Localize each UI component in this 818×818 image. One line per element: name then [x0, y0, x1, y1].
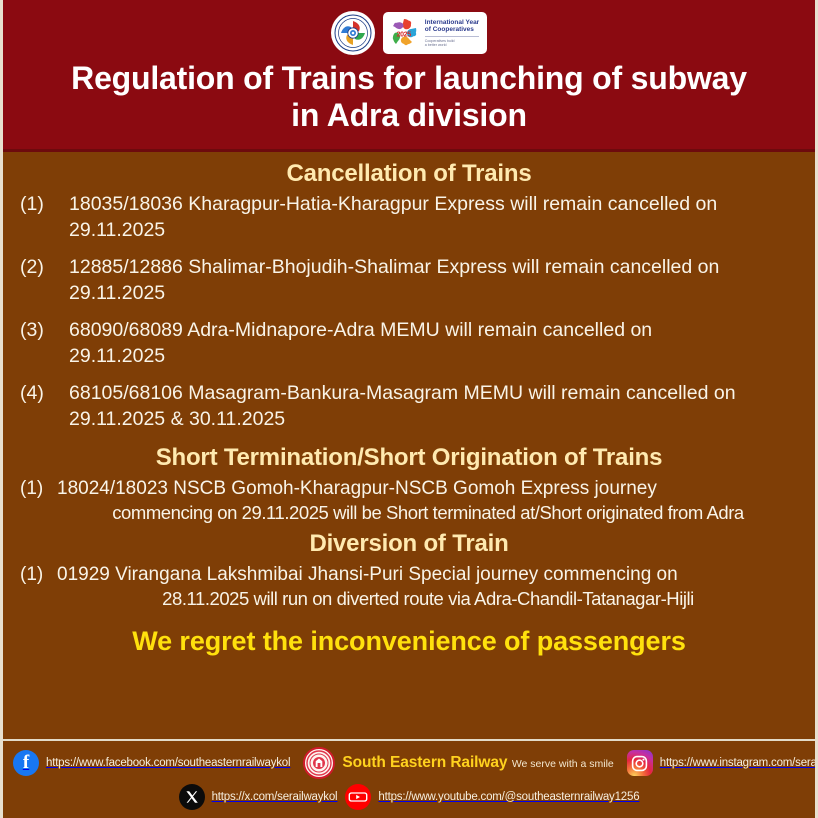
railway-notice-poster: 2025 International Year of Cooperatives … — [0, 0, 818, 818]
item-text-line2: 29.11.2025 — [69, 281, 799, 307]
section-heading: Cancellation of Trains — [19, 160, 799, 188]
x-twitter-url: https://x.com/serailwaykol — [212, 791, 338, 803]
brand-tagline: We serve with a smile — [512, 758, 614, 770]
item-text-line1: 12885/12886 Shalimar-Bhojudih-Shalimar E… — [69, 256, 719, 278]
item-marker: (2) — [19, 255, 69, 281]
iyc-text-block: International Year of Cooperatives Coope… — [425, 19, 479, 48]
item-text: 12885/12886 Shalimar-Bhojudih-Shalimar E… — [69, 255, 799, 307]
item-text: 01929 Virangana Lakshmibai Jhansi-Puri S… — [57, 562, 799, 612]
notice-content: Cancellation of Trains (1) 18035/18036 K… — [3, 152, 815, 739]
x-twitter-link[interactable]: https://x.com/serailwaykol — [179, 784, 338, 810]
item-text: 68105/68106 Masagram-Bankura-Masagram ME… — [69, 381, 799, 433]
south-eastern-railway-brand: South Eastern Railway We serve with a sm… — [303, 747, 613, 779]
item-text-line1: 68105/68106 Masagram-Bankura-Masagram ME… — [69, 382, 736, 404]
poster-header: 2025 International Year of Cooperatives … — [3, 0, 815, 152]
brand-text: South Eastern Railway We serve with a sm… — [342, 755, 613, 772]
cancellation-items-list: (1) 18035/18036 Kharagpur-Hatia-Kharagpu… — [19, 192, 799, 432]
list-item: (1) 18035/18036 Kharagpur-Hatia-Kharagpu… — [19, 192, 799, 244]
item-text-line2: 29.11.2025 — [69, 218, 799, 244]
facebook-url: https://www.facebook.com/southeasternrai… — [46, 757, 290, 769]
iyc-subtitle-line2: a better world — [425, 43, 479, 47]
short-termination-items-list: (1) 18024/18023 NSCB Gomoh-Kharagpur-NSC… — [19, 476, 799, 526]
diversion-items-list: (1) 01929 Virangana Lakshmibai Jhansi-Pu… — [19, 562, 799, 612]
facebook-icon: f — [13, 750, 39, 776]
item-marker: (1) — [19, 192, 69, 218]
logo-row: 2025 International Year of Cooperatives … — [3, 10, 815, 56]
iyc-year-label: 2025 — [397, 32, 411, 39]
page-title-line2: in Adra division — [29, 97, 789, 134]
item-marker: (4) — [19, 381, 69, 407]
page-title-line1: Regulation of Trains for launching of su… — [29, 60, 789, 97]
section-heading: Diversion of Train — [19, 530, 799, 558]
item-marker: (1) — [19, 562, 57, 587]
iyc-title-line1: International Year — [425, 19, 479, 27]
x-twitter-icon — [179, 784, 205, 810]
list-item: (4) 68105/68106 Masagram-Bankura-Masagra… — [19, 381, 799, 433]
list-item: (3) 68090/68089 Adra-Midnapore-Adra MEMU… — [19, 318, 799, 370]
footer-row-primary: f https://www.facebook.com/southeasternr… — [13, 747, 805, 779]
item-text-line1: 68090/68089 Adra-Midnapore-Adra MEMU wil… — [69, 319, 652, 341]
regret-note: We regret the inconvenience of passenger… — [19, 626, 799, 657]
section-cancellation-of-trains: Cancellation of Trains (1) 18035/18036 K… — [19, 160, 799, 433]
section-diversion-of-train: Diversion of Train (1) 01929 Virangana L… — [19, 530, 799, 612]
item-text: 68090/68089 Adra-Midnapore-Adra MEMU wil… — [69, 318, 799, 370]
youtube-url: https://www.youtube.com/@southeasternrai… — [378, 791, 639, 803]
south-eastern-railway-logo-icon — [303, 747, 335, 779]
instagram-link[interactable]: https://www.instagram.com/serailwaykolka… — [627, 750, 818, 776]
item-text-line1: 18024/18023 NSCB Gomoh-Kharagpur-NSCB Go… — [57, 478, 657, 499]
page-title: Regulation of Trains for launching of su… — [3, 60, 815, 141]
section-heading: Short Termination/Short Origination of T… — [19, 444, 799, 472]
item-marker: (1) — [19, 476, 57, 501]
item-text-line1: 18035/18036 Kharagpur-Hatia-Kharagpur Ex… — [69, 193, 717, 215]
item-text: 18035/18036 Kharagpur-Hatia-Kharagpur Ex… — [69, 192, 799, 244]
iyc-title-line2: of Cooperatives — [425, 26, 479, 34]
section-short-termination-origination: Short Termination/Short Origination of T… — [19, 444, 799, 526]
indian-railways-emblem-icon — [331, 11, 375, 55]
poster-footer: f https://www.facebook.com/southeasternr… — [3, 739, 815, 818]
list-item: (1) 18024/18023 NSCB Gomoh-Kharagpur-NSC… — [19, 476, 799, 526]
item-text-line2: 29.11.2025 & 30.11.2025 — [69, 407, 799, 433]
item-text-line2: 28.11.2025 will run on diverted route vi… — [57, 587, 799, 612]
item-text-line2: commencing on 29.11.2025 will be Short t… — [57, 501, 799, 526]
instagram-url: https://www.instagram.com/serailwaykolka… — [660, 757, 818, 769]
item-text: 18024/18023 NSCB Gomoh-Kharagpur-NSCB Go… — [57, 476, 799, 526]
brand-name: South Eastern Railway — [342, 754, 507, 771]
international-year-of-cooperatives-logo: 2025 International Year of Cooperatives … — [383, 12, 487, 54]
facebook-link[interactable]: f https://www.facebook.com/southeasternr… — [13, 750, 290, 776]
instagram-icon — [627, 750, 653, 776]
item-text-line1: 01929 Virangana Lakshmibai Jhansi-Puri S… — [57, 564, 678, 585]
footer-row-secondary: https://x.com/serailwaykol https://www.y… — [13, 784, 805, 810]
item-text-line2: 29.11.2025 — [69, 344, 799, 370]
list-item: (2) 12885/12886 Shalimar-Bhojudih-Shalim… — [19, 255, 799, 307]
youtube-link[interactable]: https://www.youtube.com/@southeasternrai… — [345, 784, 639, 810]
iyc-mark-icon: 2025 — [387, 16, 421, 50]
item-marker: (3) — [19, 318, 69, 344]
list-item: (1) 01929 Virangana Lakshmibai Jhansi-Pu… — [19, 562, 799, 612]
youtube-icon — [345, 784, 371, 810]
